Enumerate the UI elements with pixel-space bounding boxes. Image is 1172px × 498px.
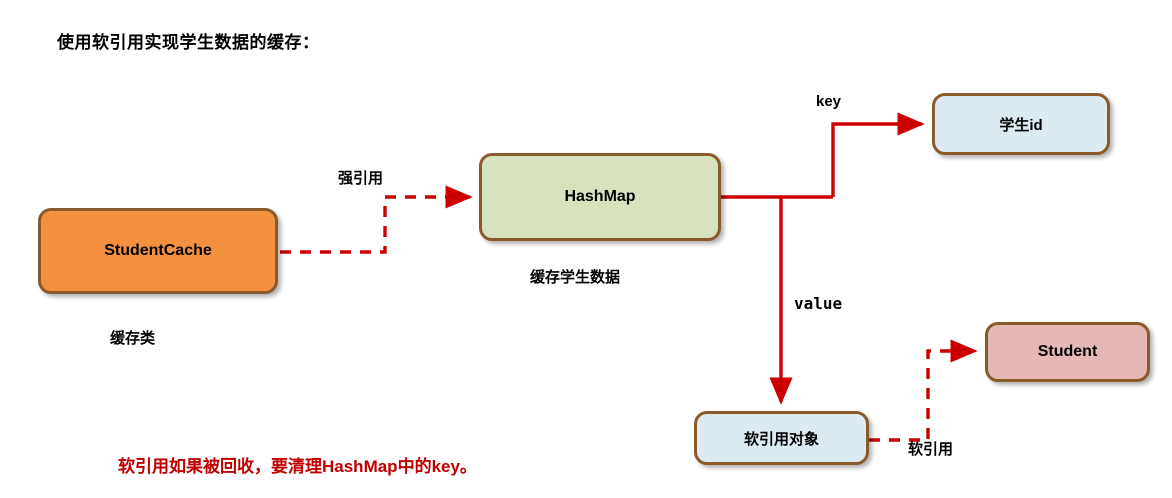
node-student-cache[interactable]: StudentCache [38,208,278,294]
node-student-cache-label: StudentCache [104,242,212,260]
node-hashmap-label: HashMap [564,188,635,206]
node-student[interactable]: Student [985,322,1150,382]
edge-label-value: value [794,294,842,313]
node-soft-reference-object-label: 软引用对象 [744,428,819,449]
node-soft-reference-object[interactable]: 软引用对象 [694,411,869,465]
edge-soft-reference [869,351,975,440]
node-student-label: Student [1038,343,1098,361]
edge-strong-reference [280,197,470,252]
node-student-id-label: 学生id [999,114,1042,135]
edge-label-key: key [816,93,841,110]
caption-hashmap: 缓存学生数据 [530,266,620,287]
footnote-text: 软引用如果被回收，要清理HashMap中的key。 [118,452,477,477]
caption-cache-class: 缓存类 [110,327,155,348]
edge-key [833,124,922,197]
diagram-canvas: 使用软引用实现学生数据的缓存： StudentCache 缓存类 HashMap… [0,0,1172,498]
node-hashmap[interactable]: HashMap [479,153,721,241]
node-student-id[interactable]: 学生id [932,93,1110,155]
page-title: 使用软引用实现学生数据的缓存： [57,28,320,53]
edge-label-soft-reference: 软引用 [908,438,953,459]
edge-label-strong-reference: 强引用 [338,167,383,188]
